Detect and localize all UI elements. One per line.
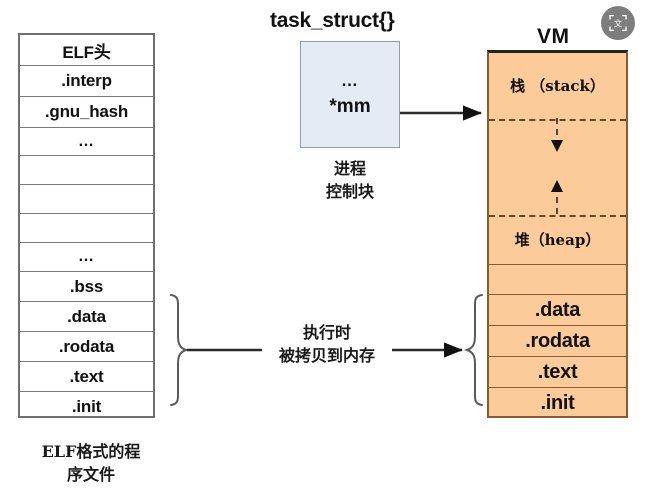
elf-row-label: .rodata (59, 337, 114, 357)
vm-row-heap-growth-gap (489, 169, 626, 217)
vm-row-label: .init (540, 392, 574, 415)
elf-row-label: … (78, 133, 95, 151)
vm-row-stack-growth-gap (489, 121, 626, 169)
elf-row-blank-3 (20, 214, 153, 243)
vm-row-text: .text (489, 357, 626, 388)
task-struct-box: … *mm (300, 41, 400, 148)
vm-row-label: .rodata (525, 330, 590, 353)
vm-row-heap: 堆（heap） (489, 217, 626, 265)
elf-row-blank-2 (20, 185, 153, 214)
elf-row-label: .text (70, 367, 104, 387)
elf-row-label: … (78, 248, 95, 266)
translate-icon[interactable]: 文 (601, 6, 635, 40)
elf-row-label: .gnu_hash (45, 102, 128, 122)
svg-text:文: 文 (614, 19, 623, 30)
elf-row-label: .init (72, 397, 101, 417)
process-control-block-label: 进程 控制块 (302, 157, 398, 203)
vm-row-label: 栈 （stack） (510, 76, 605, 96)
vm-row-label: .text (538, 361, 578, 384)
elf-row-rodata: .rodata (20, 332, 153, 362)
elf-row-elf-header: ELF头 (20, 35, 153, 66)
elf-row-interp: .interp (20, 66, 153, 97)
task-struct-ellipsis: … (341, 68, 359, 94)
elf-row-ellipsis-bottom: … (20, 243, 153, 272)
elf-file-caption: ELF格式的程 序文件 (16, 440, 166, 486)
elf-row-data: .data (20, 302, 153, 332)
elf-file-column: ELF头 .interp .gnu_hash … … .bss .data .r… (18, 33, 155, 418)
diagram-canvas: ELF头 .interp .gnu_hash … … .bss .data .r… (0, 0, 645, 499)
vm-title: VM (537, 25, 570, 49)
task-struct-title: task_struct{} (270, 9, 395, 33)
elf-row-label: ELF头 (62, 38, 110, 63)
elf-row-init: .init (20, 392, 153, 422)
elf-row-ellipsis-top: … (20, 128, 153, 156)
vm-row-rodata: .rodata (489, 326, 626, 357)
elf-row-gnu-hash: .gnu_hash (20, 97, 153, 128)
copy-to-memory-label: 执行时 被拷贝到内存 (262, 321, 392, 367)
elf-sections-brace (171, 295, 186, 405)
elf-row-text: .text (20, 362, 153, 392)
vm-row-bss-blank (489, 265, 626, 295)
task-struct-mm-field: *mm (329, 93, 370, 122)
elf-row-bss: .bss (20, 272, 153, 302)
elf-row-label: .bss (70, 277, 103, 297)
vm-row-label: 堆（heap） (515, 230, 601, 250)
vm-column: 栈 （stack） 堆（heap） .data .rodata .text .i… (487, 50, 628, 418)
elf-row-blank-1 (20, 156, 153, 185)
vm-sections-brace (467, 295, 482, 405)
elf-row-label: .interp (61, 71, 112, 91)
vm-row-stack: 栈 （stack） (489, 53, 626, 121)
vm-row-data: .data (489, 295, 626, 326)
vm-row-label: .data (535, 299, 580, 322)
vm-row-init: .init (489, 388, 626, 419)
elf-row-label: .data (67, 307, 106, 327)
